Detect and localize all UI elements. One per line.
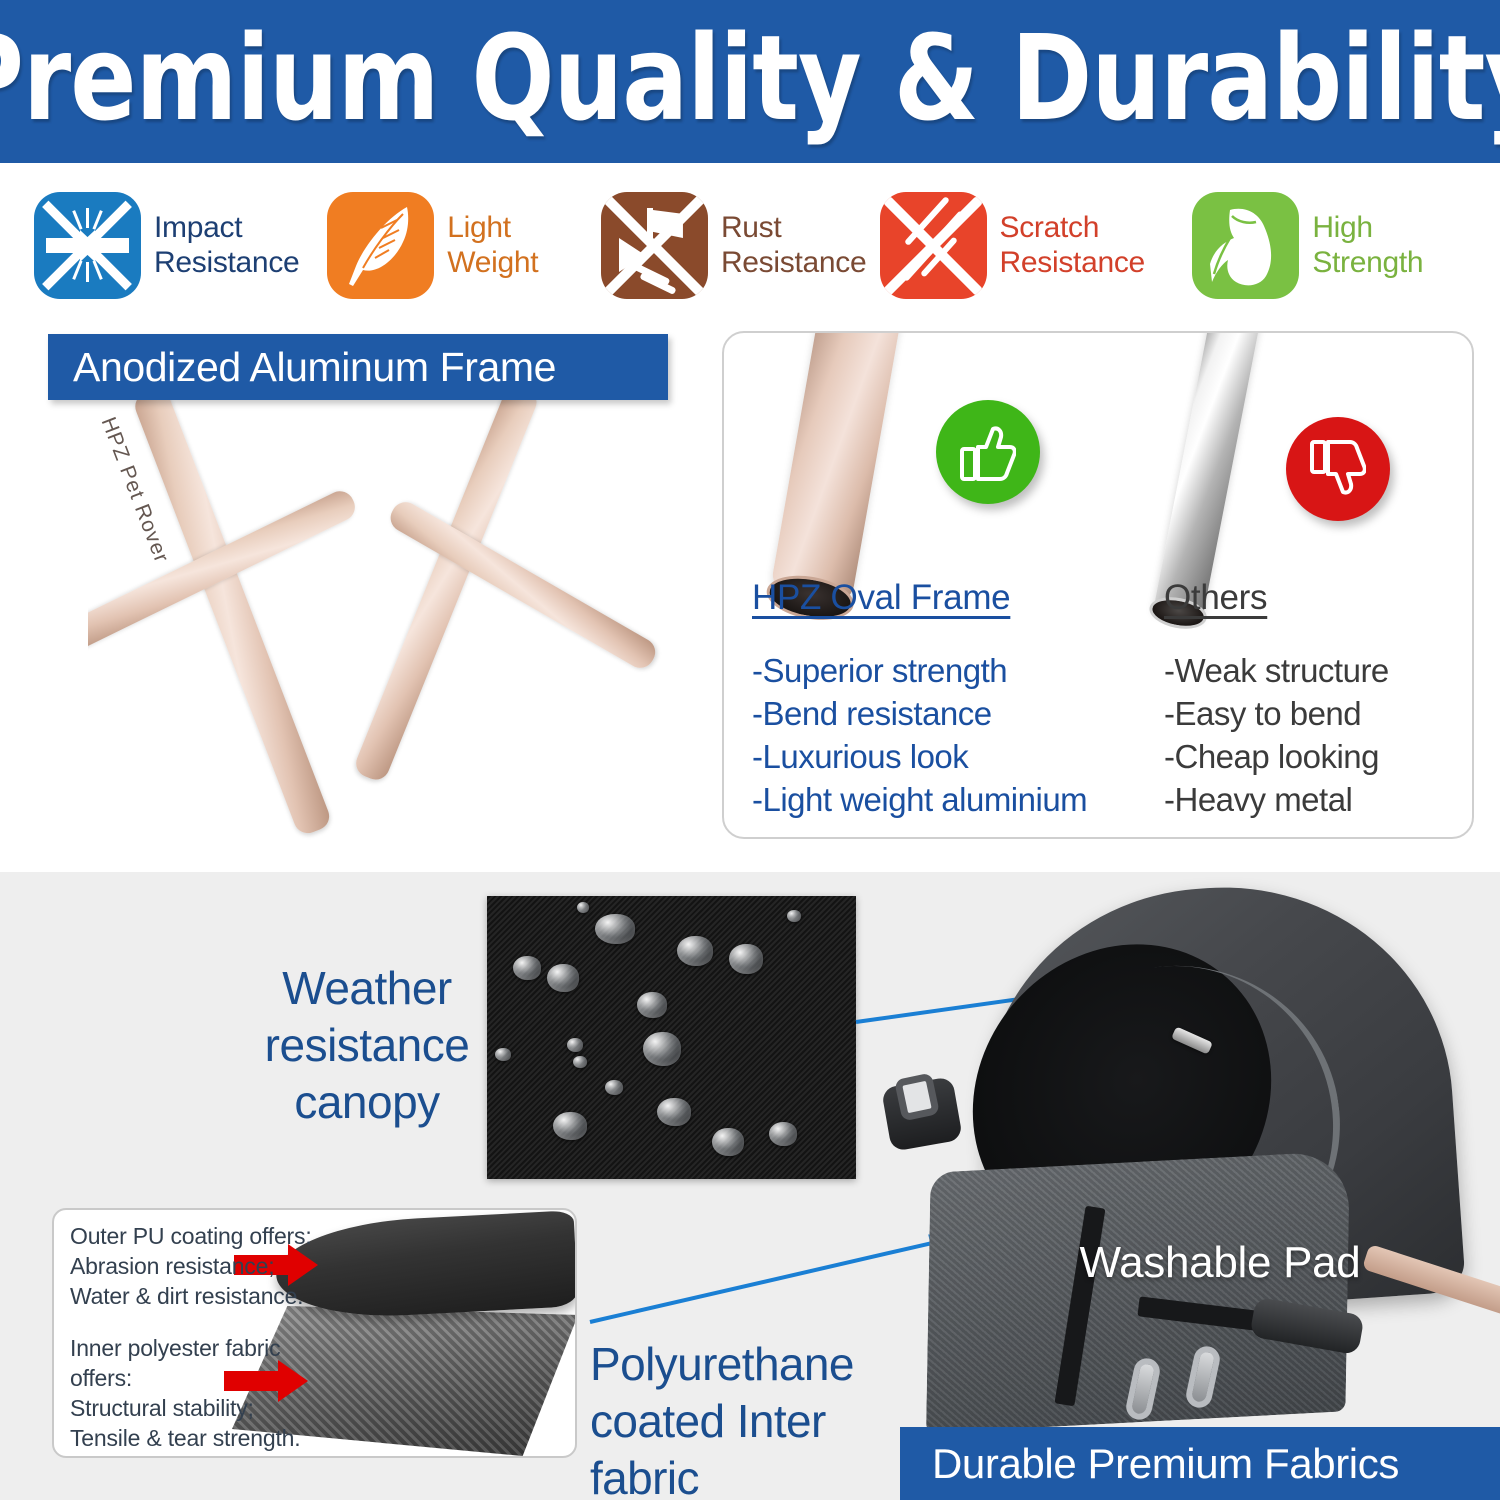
thumbs-up-icon [936,400,1040,504]
hpz-oval-tube-photo [769,331,902,612]
impact-burst-icon [34,192,141,299]
washable-pad-label: Washable Pad [1060,1236,1380,1290]
feature-item-rust-resistance: Rust Resistance [601,192,880,299]
rust-brush-crossed-icon [601,192,708,299]
feature-label-impact-resistance: Impact Resistance [154,211,299,281]
comparison-item: -Bend resistance [752,693,1164,736]
comparison-item: -Superior strength [752,650,1164,693]
comparison-heading-others: Others [1164,578,1267,618]
feature-label-high-strength: High Strength [1312,211,1423,281]
weather-resistance-canopy-label: Weather resistance canopy [232,960,502,1131]
feature-item-scratch-resistance: Scratch Resistance [880,192,1193,299]
comparison-heading-hpz: HPZ Oval Frame [752,578,1010,618]
aluminum-frame-photo: HPZ Pet Rover [88,330,688,845]
thumbs-down-icon [1286,417,1390,521]
comparison-item: -Weak structure [1164,650,1464,693]
comparison-columns: HPZ Oval Frame -Superior strength -Bend … [724,578,1474,838]
comparison-item: -Luxurious look [752,736,1164,779]
bicep-flex-icon [1192,192,1299,299]
polyurethane-coated-label: Polyurethane coated Inter fabric [590,1336,910,1507]
infographic-page: Premium Quality & Durability [0,0,1500,1500]
canopy-pad-photo [880,876,1500,1436]
anodized-aluminum-frame-text: Anodized Aluminum Frame [73,344,556,391]
inner-polyester-text: Inner polyester fabric offers: Structura… [70,1334,300,1454]
durable-premium-fabrics-banner: Durable Premium Fabrics [900,1427,1500,1500]
anodized-aluminum-frame-label: Anodized Aluminum Frame [48,334,668,400]
comparison-item: -Cheap looking [1164,736,1464,779]
frame-comparison-card: HPZ Oval Frame -Superior strength -Bend … [722,331,1474,839]
comparison-item: -Easy to bend [1164,693,1464,736]
feature-item-impact-resistance: Impact Resistance [34,192,327,299]
comparison-column-hpz: HPZ Oval Frame -Superior strength -Bend … [752,578,1164,838]
feature-label-scratch-resistance: Scratch Resistance [1000,211,1145,281]
tube-comparison-photo [724,333,1474,583]
outer-pu-coating-text: Outer PU coating offers: Abrasion resist… [70,1222,312,1312]
water-droplet-fabric-photo [487,896,856,1179]
comparison-item: -Light weight aluminium [752,779,1164,822]
feature-icon-row: Impact Resistance Light Weight [0,178,1500,313]
durable-premium-fabrics-text: Durable Premium Fabrics [932,1440,1399,1488]
page-title: Premium Quality & Durability [0,19,1500,145]
feature-label-rust-resistance: Rust Resistance [721,211,866,281]
outer-pu-coating-layer [274,1210,577,1322]
feature-item-high-strength: High Strength [1192,192,1466,299]
feather-icon [327,192,434,299]
scratch-crossed-icon [880,192,987,299]
fabric-layers-card: Outer PU coating offers: Abrasion resist… [52,1208,577,1458]
feature-item-light-weight: Light Weight [327,192,601,299]
comparison-column-others: Others -Weak structure -Easy to bend -Ch… [1164,578,1464,838]
header-banner: Premium Quality & Durability [0,0,1500,163]
comparison-item: -Heavy metal [1164,779,1464,822]
feature-label-light-weight: Light Weight [447,211,538,281]
